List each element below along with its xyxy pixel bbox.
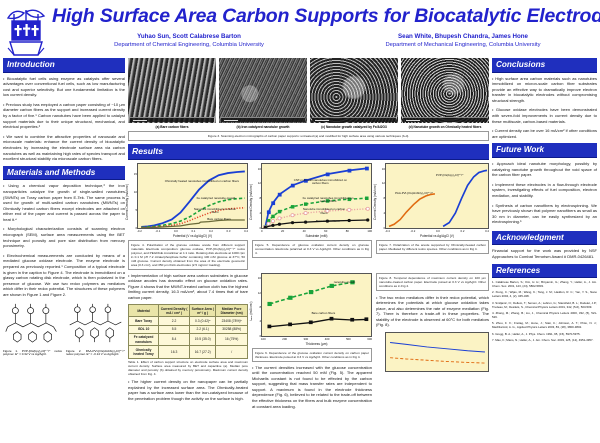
sem-figure-caption-box: Figure 3. Scanning electron micrographs …: [128, 131, 489, 141]
results-paragraph-2: The higher current density on the nanopa…: [128, 379, 248, 401]
materials-paragraph-1: Using a chemical vapor deposition techni…: [3, 183, 125, 222]
figure4-xtick-4: 0.2: [209, 229, 213, 233]
figure6-caption: Figure 6. Dependence of the glucose oxid…: [255, 351, 369, 359]
sem-scalebar-b: [221, 117, 305, 122]
figure7-xtick-4: 0.0: [436, 229, 440, 233]
poster-header: High Surface Area Carbon Supports for Bi…: [0, 0, 600, 58]
figure6-ytick-3: 12: [258, 291, 261, 295]
figure4-xtick-3: 0.1: [191, 229, 195, 233]
results-paragraph-3: The current densities increased with the…: [252, 365, 372, 410]
sem-caption-b: (b) Iron catalyzed nanotube growth: [219, 123, 307, 129]
polymer-structure-1-diagram: [3, 302, 62, 344]
polymer-figure-2-caption: Figure 2. PAA-PVI-[Os(dmbbiy)₂Cl]⁺ᐟ²⁺ re…: [66, 350, 125, 358]
figure7-chart: Current Density (mA/cm²) PAA-PVI-[Os(dmb…: [376, 163, 489, 238]
reference-item: 3. Smiljanic, O.; Dellero, T.; Serven, A…: [492, 302, 597, 310]
figure4-plot-area: Ohmically heated nanotubes immobilized o…: [137, 163, 248, 229]
figure5-ytick-0: 0: [259, 226, 261, 230]
right-column: Conclusions High surface area carbon mat…: [492, 58, 597, 443]
conclusions-paragraph-3: Current density can be over 16 mA/cm² if…: [492, 128, 597, 139]
figure4-ylabel: Current Density (mA/cm²): [125, 184, 129, 220]
section-header-future-work: Future Work: [492, 143, 597, 158]
figure4-xtick-1: -0.1: [155, 229, 160, 233]
conclusions-body: High surface area carbon materials such …: [492, 76, 597, 140]
sem-panel-a: (a) Bare carbon fibers: [128, 58, 216, 129]
figure4-series-label-1: Ohmically heated nanotubes immobilized o…: [165, 180, 239, 184]
figure6-xtick-1: 200: [282, 337, 287, 341]
figure4-block: Current Density (mA/cm²) Ohmically heate…: [128, 163, 248, 270]
figure4-xticks: -0.2 -0.1 0.0 0.1 0.2 0.3 0.4: [137, 229, 248, 233]
figure8-caption-box: Figure 8. Temporal dependence of maximum…: [376, 273, 489, 291]
figure4-series-label-4: Bare carbon fibers: [199, 218, 239, 222]
figure5-caption: Figure 5. Dependence of glucose oxidatio…: [255, 243, 369, 255]
author-affiliation-2: Department of Mechanical Engineering, Co…: [326, 41, 600, 50]
figure4-ytick-0: 0: [135, 226, 137, 230]
figure5-xtick-2: 40: [303, 229, 306, 233]
figure5-ytick-1: 4: [259, 211, 261, 215]
polymer-figure-2: Figure 2. PAA-PVI-[Os(dmbbiy)₂Cl]⁺ᐟ²⁺ re…: [66, 302, 125, 358]
sem-caption-c: (c) Nanotube growth catalyzed by Fe/Al2O…: [310, 123, 398, 129]
future-paragraph-3: Synthesis of carbon nanofibers by electr…: [492, 203, 597, 225]
conclusions-paragraph-1: High surface area carbon materials such …: [492, 76, 597, 104]
cell-pore-3: /: [216, 346, 248, 358]
figure6-caption-box: Figure 6. Dependence of the glucose oxid…: [252, 348, 372, 362]
intro-paragraph-2: Previous study has employed a carbon pap…: [3, 102, 125, 130]
reference-item: 5. Zhou, F. X.; Freitag, M.; Hone, J.; S…: [492, 322, 597, 330]
future-work-body: Approach ideal nanotube morphology, poss…: [492, 161, 597, 225]
sem-image-d: [401, 58, 489, 123]
figure4-series-label-2: Fe catalyzed nanotube growth: [193, 197, 239, 201]
figure7-caption: Figure 7. Polarization of the anode supp…: [379, 243, 486, 251]
figure4-caption-box: Figure 4. Polarization of the glucose ox…: [128, 240, 248, 270]
figure7-xlabel: Potential vs Ag/AgCl (V): [385, 234, 489, 238]
figure4-caption: Figure 4. Polarization of the glucose ox…: [131, 243, 245, 267]
reference-item: 6. Gregg, B. A.; Heller, A., J. Phys. Ch…: [492, 333, 597, 337]
figure7-ylabel: Current Density (mA/cm²): [373, 184, 377, 220]
table-col-median-pore: Median Pore Diameter (nm): [216, 305, 248, 317]
future-paragraph-1: Approach ideal nanotube morphology, poss…: [492, 161, 597, 178]
figure5-plot-area: CNT-multi-wall nanotubes immobilized on …: [261, 163, 372, 229]
cell-current-1: 5.5: [159, 325, 190, 333]
figure4-xtick-5: 0.3: [227, 229, 231, 233]
author-block-2: Sean White, Bhupesh Chandra, James Hone …: [326, 32, 600, 50]
figure4-xtick-2: 0.0: [174, 229, 178, 233]
results-paragraph-1: Implementation of high surface area carb…: [128, 273, 248, 301]
figure4-chart: Current Density (mA/cm²) Ohmically heate…: [128, 163, 248, 238]
intro-paragraph-3: We want to combine the attractive proper…: [3, 134, 125, 162]
cell-pore-2: 16 (75%): [216, 333, 248, 345]
figure7-xtick-0: -0.4: [385, 229, 390, 233]
sem-scalebar-d: [403, 117, 487, 122]
reference-item: 4. Zhang, M.; Zhang, B.; Liu, J., Chemic…: [492, 312, 597, 320]
polymer-figure-1-caption: Figure 1. PVP-[Os(bpy)₂Cl]⁺ᐟ²⁺ redox pol…: [3, 350, 62, 358]
table-header-row: Material Current Density ( mA / cm² ) Su…: [129, 305, 248, 317]
figure6-xtick-4: 500: [346, 337, 351, 341]
table-caption: Table 1. Effect of carbon support struct…: [128, 360, 248, 376]
figure7-ytick-4: 16: [382, 167, 385, 171]
figure7-series-label-2: PVP-[Os(bpy)₂Cl]⁺ᐟ²⁺: [427, 174, 473, 178]
results-paragraph-4: The two redox mediators differ in their …: [376, 295, 489, 329]
sem-panel-d: (d) Nanotube growth on Ohmically heated …: [401, 58, 489, 129]
cell-material-1: GDL 10: [129, 325, 159, 333]
figure6-xtick-5: 600: [367, 337, 372, 341]
figure5-xtick-3: 60: [324, 229, 327, 233]
section-header-introduction: Introduction: [3, 58, 125, 73]
cell-area-3: 16.7 (27.2): [190, 346, 216, 358]
table-col-current-density: Current Density ( mA / cm² ): [159, 305, 190, 317]
sem-caption-a: (a) Bare carbon fibers: [128, 123, 216, 129]
figure5-caption-box: Figure 5. Dependence of glucose oxidatio…: [252, 240, 372, 258]
figure5-ytick-4: 16: [258, 167, 261, 171]
author-affiliation-1: Department of Chemical Engineering, Colu…: [52, 41, 326, 50]
figure7-ytick-0: 0: [383, 226, 385, 230]
figure7-ytick-2: 8: [383, 196, 385, 200]
figure4-ytick-1: 5: [135, 208, 137, 212]
figure7-xtick-2: -0.2: [410, 229, 415, 233]
acknowledgment-body: Financial support for the work was provi…: [492, 248, 597, 259]
section-header-results: Results: [128, 144, 489, 160]
page-title: High Surface Area Carbon Supports for Bi…: [52, 0, 600, 30]
figure5-series-label-4: Bare carbon fibers: [308, 220, 348, 224]
conclusions-paragraph-2: Glucose oxidase electrodes have been dem…: [492, 107, 597, 124]
section-header-acknowledgment: Acknowledgment: [492, 231, 597, 246]
materials-body: Using a chemical vapor deposition techni…: [3, 183, 125, 297]
figure4-ytick-2: 10: [134, 190, 137, 194]
cell-pore-1: 30258 (88%): [216, 325, 248, 333]
cell-area-1: 2.2 (6.1): [190, 325, 216, 333]
figure7-caption-box: Figure 7. Polarization of the anode supp…: [376, 240, 489, 254]
figure5-ylabel: Current Density (mA/cm²): [249, 184, 253, 220]
reference-item: 7. Mao, F.; Mano, N.; Heller, A., J. Am.…: [492, 339, 597, 343]
table-row: Ohmically heated Toray 16.3 16.7 (27.2) …: [129, 346, 248, 358]
figure5-xticks: 0 20 40 60 80 100: [261, 229, 372, 233]
middle-column: (a) Bare carbon fibers (b) Iron catalyze…: [128, 58, 489, 443]
section-header-references: References: [492, 264, 597, 279]
table-row: Bare Toray 2.2 0.3 (0.42)ᵃ 23408 (78%)ᵇ: [129, 317, 248, 325]
sem-caption-d: (d) Nanotube growth on Ohmically heated …: [401, 123, 489, 129]
figure5-xtick-4: 80: [346, 229, 349, 233]
figure6-ylabel: iₘₐₓ (mA/cm²): [249, 302, 253, 321]
results-chart-row-1: Current Density (mA/cm²) Ohmically heate…: [128, 163, 489, 270]
figure6-plot-area: nanotube growth Bare carbon fibers 0 4 8…: [261, 273, 372, 337]
poster-root: High Surface Area Carbon Supports for Bi…: [0, 0, 600, 443]
figure4-xlabel: Potential (V vs Ag/AgCl) (V): [137, 234, 248, 238]
sem-image-c: [310, 58, 398, 123]
figure7-block: Current Density (mA/cm²) PAA-PVI-[Os(dmb…: [376, 163, 489, 270]
figure5-ytick-2: 8: [259, 196, 261, 200]
sem-panel-c: (c) Nanotube growth catalyzed by Fe/Al2O…: [310, 58, 398, 129]
figure6-ytick-4: 16: [258, 276, 261, 280]
cell-area-0: 0.3 (0.42)ᵃ: [190, 317, 216, 325]
figure6-xlabel: Thickness (µm): [261, 342, 372, 346]
sem-panel-b: (b) Iron catalyzed nanotube growth: [219, 58, 307, 129]
figure7-series-label-1: PAA-PVI-[Os(dmbbiy)₂Cl]⁺ᐟ²⁺: [390, 192, 438, 196]
cell-pore-0: 23408 (78%)ᵇ: [216, 317, 248, 325]
intro-paragraph-1: Biocatalytic fuel cells using enzyme as …: [3, 76, 125, 98]
figure4-series-label-3: Nanotube immobilized on carbon fibers: [191, 208, 239, 215]
references-list: 1. Calabrese Barton, S.; Kim, H. H.; Bin…: [492, 281, 597, 343]
figure8-caption: Figure 8. Temporal dependence of maximum…: [379, 276, 486, 288]
figure8-block: Figure 8. Temporal dependence of maximum…: [376, 273, 489, 414]
table-row: GDL 10 5.5 2.2 (6.1) 30258 (88%): [129, 325, 248, 333]
polymer-structure-2-diagram: [66, 302, 125, 344]
figure7-xtick-8: 0.4: [485, 229, 489, 233]
figure7-xticks: -0.4 -0.2 0.0 0.2 0.4: [385, 229, 489, 233]
figure4-xtick-0: -0.2: [137, 229, 142, 233]
figure8-plot-area: [385, 332, 489, 372]
author-list: Yuhao Sun, Scott Calabrese Barton Depart…: [52, 32, 600, 50]
left-column: Introduction Biocatalytic fuel cells usi…: [3, 58, 125, 443]
sem-image-b: [219, 58, 307, 123]
cell-area-2: 19.5 (35.0): [190, 333, 216, 345]
cell-material-3: Ohmically heated Toray: [129, 346, 159, 358]
figure4-xtick-6: 0.4: [244, 229, 248, 233]
cell-current-0: 2.2: [159, 317, 190, 325]
cell-material-2: Fe catalyzed nanotubes: [129, 333, 159, 345]
acknowledgment-paragraph-1: Financial support for the work was provi…: [492, 248, 597, 259]
reference-item: 2. Xiong, C.; Wijas, M.; Wang, K.; Tang,…: [492, 291, 597, 299]
sem-scalebar-c: [312, 117, 396, 122]
author-names-1: Yuhao Sun, Scott Calabrese Barton: [52, 32, 326, 41]
section-header-conclusions: Conclusions: [492, 58, 597, 73]
figure7-ytick-1: 4: [383, 211, 385, 215]
figure8-chart: [376, 332, 489, 372]
sem-figure-caption: Figure 3. Scanning electron micrographs …: [131, 134, 486, 138]
cell-current-2: 8.4: [159, 333, 190, 345]
columbia-crown-logo: [4, 4, 50, 56]
figure5-block: Current Density (mA/cm²): [252, 163, 372, 270]
figure7-plot-area: PAA-PVI-[Os(dmbbiy)₂Cl]⁺ᐟ²⁺ PVP-[Os(bpy)…: [385, 163, 489, 229]
sem-image-a: [128, 58, 216, 123]
figure6-xtick-0: 100: [261, 337, 266, 341]
sem-micrograph-row: (a) Bare carbon fibers (b) Iron catalyze…: [128, 58, 489, 129]
surface-area-current-density-table: Material Current Density ( mA / cm² ) Su…: [128, 304, 248, 358]
figure6-block: iₘₐₓ (mA/cm²) nanotube growth Bare carbo…: [252, 273, 372, 414]
figure6-xtick-3: 400: [325, 337, 330, 341]
results-row-2: Implementation of high surface area carb…: [128, 273, 489, 414]
sem-scalebar-a: [130, 117, 214, 122]
introduction-body: Biocatalytic fuel cells using enzyme as …: [3, 76, 125, 162]
reference-item: 1. Calabrese Barton, S.; Kim, H. H.; Bin…: [492, 281, 597, 289]
figure5-xlabel: Substrate (mM): [261, 234, 372, 238]
figure6-xticks: 100 200 300 400 500 600: [261, 337, 372, 341]
figure6-xtick-2: 300: [304, 337, 309, 341]
figure7-xtick-6: 0.2: [461, 229, 465, 233]
figure5-ytick-3: 12: [258, 181, 261, 185]
cell-current-3: 16.3: [159, 346, 190, 358]
table-row: Fe catalyzed nanotubes 8.4 19.5 (35.0) 1…: [129, 333, 248, 345]
table-col-surface-area: Surface Area ( m² / g ): [190, 305, 216, 317]
figure6-ytick-1: 4: [259, 319, 261, 323]
poster-columns: Introduction Biocatalytic fuel cells usi…: [0, 58, 600, 443]
cell-material-0: Bare Toray: [129, 317, 159, 325]
figure7-ytick-3: 12: [382, 181, 385, 185]
figure5-series-label-3: Nanotube immobilized on carbon fibers: [299, 208, 349, 215]
figure5-series-label-2: Fe catalyzed nanotubes immobilized on ca…: [299, 197, 357, 204]
future-paragraph-2: Implement these electrodes in a flow-thr…: [492, 182, 597, 199]
figure6-ytick-2: 8: [259, 305, 261, 309]
figure6-series-label-1: nanotube growth: [324, 281, 364, 285]
figure6-ytick-0: 0: [259, 334, 261, 338]
polymer-structures-row: Figure 1. PVP-[Os(bpy)₂Cl]⁺ᐟ²⁺ redox pol…: [3, 302, 125, 358]
figure6-series-label-2: Bare carbon fibers: [303, 312, 343, 316]
figure5-chart: Current Density (mA/cm²): [252, 163, 372, 238]
figure5-series-label-1: CNT-multi-wall nanotubes immobilized on …: [290, 179, 350, 186]
figure4-ytick-3: 15: [134, 172, 137, 176]
figure5-xtick-1: 20: [281, 229, 284, 233]
figure5-xtick-5: 100: [367, 229, 372, 233]
materials-paragraph-2: Morphological characterization consists …: [3, 226, 125, 248]
section-header-materials: Materials and Methods: [3, 166, 125, 181]
author-names-2: Sean White, Bhupesh Chandra, James Hone: [326, 32, 600, 41]
table-col-material: Material: [129, 305, 159, 317]
polymer-figure-1: Figure 1. PVP-[Os(bpy)₂Cl]⁺ᐟ²⁺ redox pol…: [3, 302, 62, 358]
author-block-1: Yuhao Sun, Scott Calabrese Barton Depart…: [52, 32, 326, 50]
results-text-block-1: Implementation of high surface area carb…: [128, 273, 248, 414]
figure6-chart: iₘₐₓ (mA/cm²) nanotube growth Bare carbo…: [252, 273, 372, 346]
materials-paragraph-3: Electrochemical measurements are conduct…: [3, 253, 125, 298]
